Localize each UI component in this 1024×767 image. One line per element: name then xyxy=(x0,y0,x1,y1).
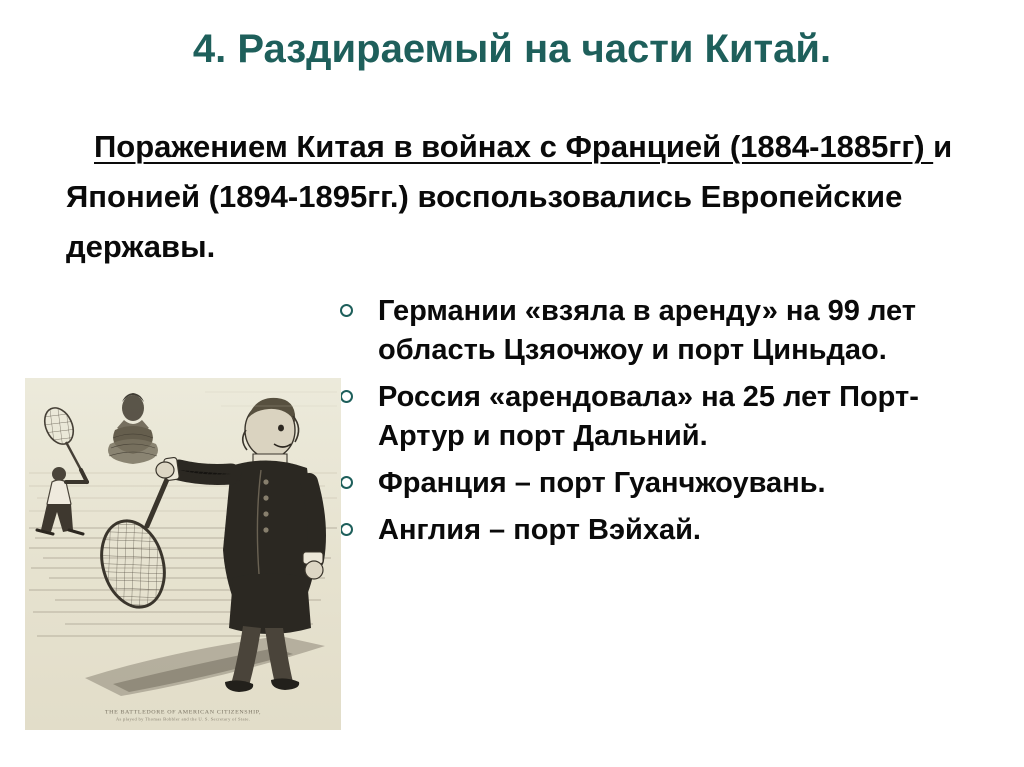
intro-line-1: Поражением Китая в войнах с Францией (18… xyxy=(66,122,996,172)
list-item: Россия «арендовала» на 25 лет Порт-Артур… xyxy=(338,378,998,456)
historical-cartoon-image: THE BATTLEDORE OF AMERICAN CITIZENSHIP, … xyxy=(25,378,341,730)
cartoon-engraving xyxy=(25,378,341,730)
intro-paragraph: Поражением Китая в войнах с Францией (18… xyxy=(66,122,996,272)
list-item-label: Россия «арендовала» на 25 лет Порт-Артур… xyxy=(378,378,998,456)
list-item: Германии «взяла в аренду» на 99 лет обла… xyxy=(338,292,998,370)
intro-line-1-tail: и xyxy=(933,129,952,164)
list-item: Франция – порт Гуанчжоувань. xyxy=(338,464,998,503)
cartoon-caption-line-2: As played by Thomas Bobbler and the U. S… xyxy=(25,716,341,723)
cartoon-caption-line-1: THE BATTLEDORE OF AMERICAN CITIZENSHIP, xyxy=(105,710,261,715)
list-item-label: Англия – порт Вэйхай. xyxy=(378,511,998,550)
circle-bullet-icon xyxy=(340,390,353,403)
bullet-list: Германии «взяла в аренду» на 99 лет обла… xyxy=(338,292,998,558)
intro-line-1-underlined: Поражением Китая в войнах с Францией (18… xyxy=(94,129,933,164)
intro-line-3: державы. xyxy=(66,222,996,272)
list-item-label: Франция – порт Гуанчжоувань. xyxy=(378,464,998,503)
list-item: Англия – порт Вэйхай. xyxy=(338,511,998,550)
circle-bullet-icon xyxy=(340,476,353,489)
slide-canvas: 4. Раздираемый на части Китай. Поражение… xyxy=(0,0,1024,767)
intro-line-2: Японией (1894-1895гг.) воспользовались Е… xyxy=(66,172,996,222)
page-title: 4. Раздираемый на части Китай. xyxy=(0,26,1024,72)
list-item-label: Германии «взяла в аренду» на 99 лет обла… xyxy=(378,292,998,370)
cartoon-caption: THE BATTLEDORE OF AMERICAN CITIZENSHIP, … xyxy=(25,709,341,723)
circle-bullet-icon xyxy=(340,523,353,536)
circle-bullet-icon xyxy=(340,304,353,317)
